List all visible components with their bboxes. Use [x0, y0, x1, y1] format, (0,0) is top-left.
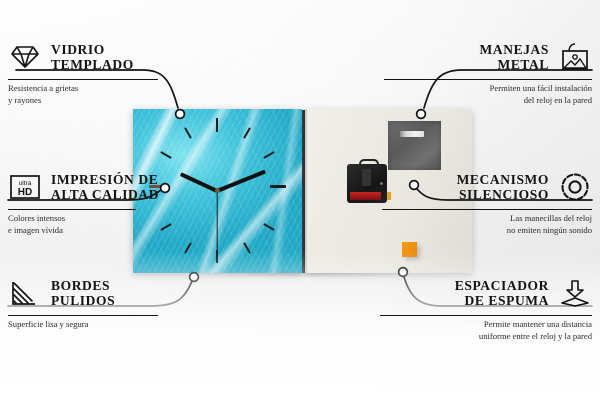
feature-vidrio-templado: VIDRIO TEMPLADO Resistencia a grietas y …: [8, 38, 238, 106]
feature-title: MANEJAS METAL: [480, 42, 549, 73]
foam-spacer-icon: [558, 277, 592, 309]
svg-text:HD: HD: [18, 187, 32, 198]
clock-tick-2: [263, 151, 274, 159]
back-panel-edge: [305, 109, 307, 273]
clock-tick-10: [160, 151, 171, 159]
feature-subtitle: Permite mantener una distancia uniforme …: [362, 319, 592, 342]
ultra-hd-icon: ultra HD: [8, 171, 42, 203]
gear-icon: [558, 171, 592, 203]
feature-subtitle: Superficie lisa y segura: [8, 319, 238, 330]
feature-header: VIDRIO TEMPLADO: [8, 38, 238, 76]
feature-subtitle: Resistencia a grietas y rayones: [8, 83, 238, 106]
feature-header: ultra HD IMPRESIÓN DE ALTA CALIDAD: [8, 168, 238, 206]
feature-rule: [380, 315, 592, 316]
feature-subtitle: Permiten una fácil instalación del reloj…: [362, 83, 592, 106]
feature-mecanismo-silencioso: MECANISMO SILENCIOSO Las manecillas del …: [362, 168, 592, 236]
feature-title: IMPRESIÓN DE ALTA CALIDAD: [51, 172, 159, 203]
infographic-canvas: VIDRIO TEMPLADO Resistencia a grietas y …: [0, 0, 600, 400]
feature-rule: [8, 209, 136, 210]
diamond-icon: [8, 41, 42, 73]
feature-title: BORDES PULIDOS: [51, 278, 115, 309]
feature-rule: [8, 315, 158, 316]
clock-tick-3: [270, 185, 286, 188]
clock-tick-7: [184, 242, 192, 253]
clock-tick-1: [243, 127, 251, 138]
metal-hanger-plate: [388, 121, 441, 170]
feature-header: MANEJAS METAL: [362, 38, 592, 76]
orange-foam-spacer: [402, 242, 417, 257]
feature-title: MECANISMO SILENCIOSO: [457, 172, 549, 203]
clock-tick-4: [263, 223, 274, 231]
feature-header: BORDES PULIDOS: [8, 274, 238, 312]
feature-title: ESPACIADOR DE ESPUMA: [455, 278, 549, 309]
clock-tick-5: [243, 242, 251, 253]
hanger-slot: [400, 131, 424, 137]
polished-edges-icon: [8, 277, 42, 309]
feature-rule: [384, 79, 592, 80]
svg-text:ultra: ultra: [19, 180, 32, 187]
feature-header: ESPACIADOR DE ESPUMA: [362, 274, 592, 312]
clock-tick-11: [184, 127, 192, 138]
feature-rule: [8, 79, 158, 80]
feature-manejas-metal: MANEJAS METAL Permiten una fácil instala…: [362, 38, 592, 106]
feature-subtitle: Las manecillas del reloj no emiten ningú…: [362, 213, 592, 236]
feature-header: MECANISMO SILENCIOSO: [362, 168, 592, 206]
feature-subtitle: Colores intensos e imagen vívida: [8, 213, 238, 236]
feature-rule: [382, 209, 592, 210]
feature-bordes-pulidos: BORDES PULIDOS Superficie lisa y segura: [8, 274, 238, 331]
wall-hanger-icon: [558, 41, 592, 73]
feature-impresion-alta-calidad: ultra HD IMPRESIÓN DE ALTA CALIDAD Color…: [8, 168, 238, 236]
feature-title: VIDRIO TEMPLADO: [51, 42, 134, 73]
feature-espaciador-espuma: ESPACIADOR DE ESPUMA Permite mantener un…: [362, 274, 592, 342]
clock-tick-12: [216, 118, 218, 132]
